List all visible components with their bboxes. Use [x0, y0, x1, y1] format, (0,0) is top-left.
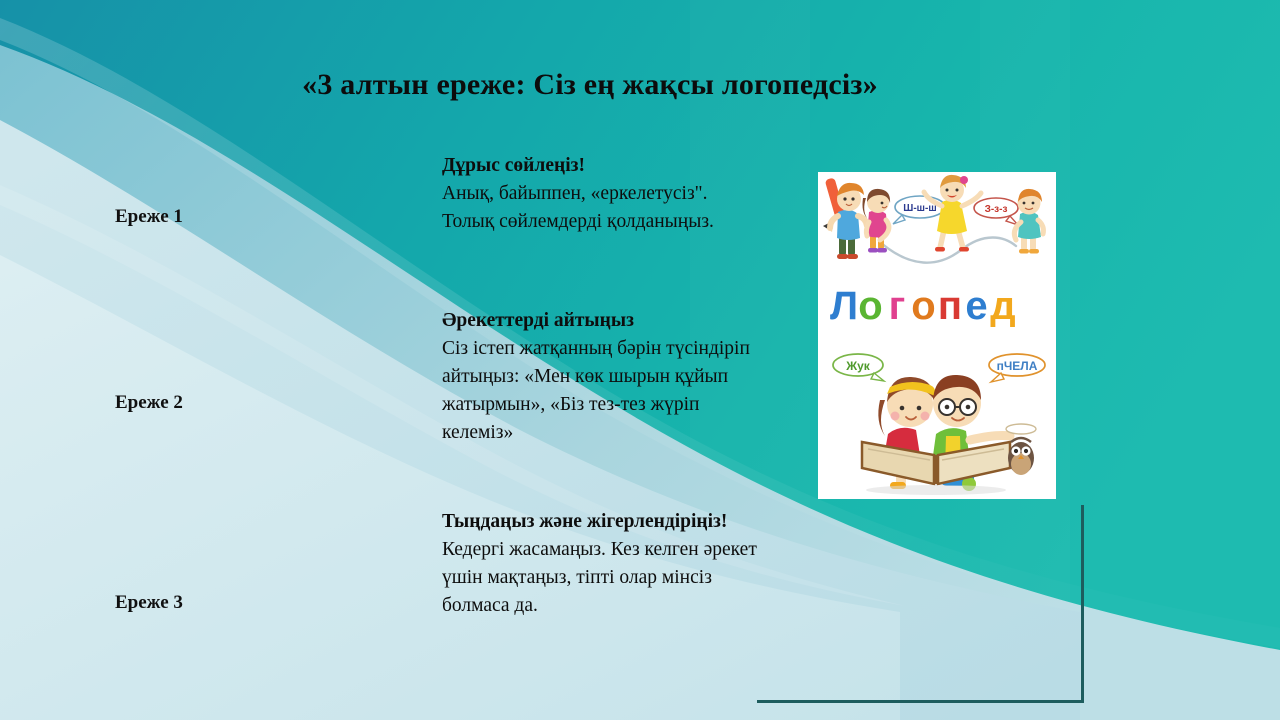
wordmark-letter: е	[965, 284, 987, 328]
corner-rule-vertical	[1081, 505, 1084, 703]
rule-heading-1: Дұрыс сөйлеңіз!	[442, 152, 760, 180]
rule-label-1: Ереже 1	[115, 206, 183, 228]
logoped-illustration: Ш-ш-ш З-з-з	[818, 172, 1056, 499]
rule-label-3: Ереже 3	[115, 592, 183, 614]
wordmark-letter: д	[990, 284, 1015, 328]
corner-rule-horizontal	[757, 700, 1084, 703]
speech-bubble-pchela-text: пЧЕЛА	[997, 359, 1038, 373]
rule-heading-2: Әрекеттерді айтыңыз	[442, 307, 760, 335]
rule-heading-3: Тыңдаңыз және жігерлендіріңіз!	[442, 508, 760, 536]
rule-label-2: Ереже 2	[115, 392, 183, 414]
speech-bubble-z-text: З-з-з	[985, 204, 1008, 215]
speech-bubble-zhuk-text: Жук	[845, 359, 871, 373]
speech-bubble-sh-text: Ш-ш-ш	[903, 203, 936, 214]
wordmark-letter: п	[938, 284, 962, 328]
rule-block-2: Әрекеттерді айтыңыз Сіз істеп жатқанның …	[442, 307, 760, 447]
logoped-illustration-card: Ш-ш-ш З-з-з	[818, 172, 1056, 499]
wordmark-letter: Л	[830, 284, 858, 328]
rule-body-3: Кедергі жасамаңыз. Кез келген әрекет үші…	[442, 536, 760, 620]
slide-title: «3 алтын ереже: Сіз ең жақсы логопедсіз»	[0, 68, 1180, 102]
rule-block-1: Дұрыс сөйлеңіз! Анық, байыппен, «еркелет…	[442, 152, 760, 236]
rule-block-3: Тыңдаңыз және жігерлендіріңіз! Кедергі ж…	[442, 508, 760, 620]
wordmark-letter: о	[858, 284, 882, 328]
rule-body-2: Сіз істеп жатқанның бәрін түсіндіріп айт…	[442, 335, 760, 447]
rule-body-1: Анық, байыппен, «еркелетусіз". Толық сөй…	[442, 180, 760, 236]
wordmark-letter: г	[889, 284, 906, 328]
slide-canvas: «3 алтын ереже: Сіз ең жақсы логопедсіз»…	[0, 0, 1280, 720]
wordmark-letter: о	[911, 284, 935, 328]
owl-figure	[1006, 424, 1036, 475]
